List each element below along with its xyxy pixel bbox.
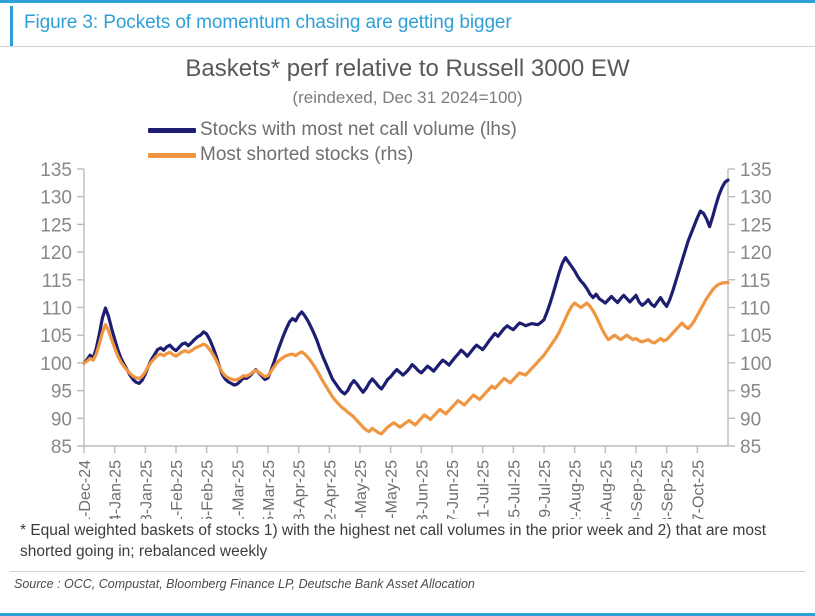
svg-text:120: 120 — [740, 243, 772, 264]
svg-text:105: 105 — [740, 326, 772, 347]
svg-text:105: 105 — [40, 326, 72, 347]
svg-text:120: 120 — [40, 243, 72, 264]
svg-text:22-Apr-25: 22-Apr-25 — [322, 460, 339, 519]
svg-text:100: 100 — [40, 354, 72, 375]
svg-text:90: 90 — [740, 409, 761, 430]
svg-text:29-Jul-25: 29-Jul-25 — [537, 460, 554, 519]
svg-text:130: 130 — [740, 188, 772, 209]
figure-header: Figure 3: Pockets of momentum chasing ar… — [0, 0, 815, 46]
svg-text:15-Jul-25: 15-Jul-25 — [506, 460, 523, 519]
chart-footnote: * Equal weighted baskets of stocks 1) wi… — [0, 519, 815, 563]
svg-text:130: 130 — [40, 188, 72, 209]
svg-text:115: 115 — [740, 271, 770, 292]
svg-text:7-Oct-25: 7-Oct-25 — [690, 460, 707, 519]
svg-text:3-Jun-25: 3-Jun-25 — [414, 460, 431, 519]
svg-text:14-Jan-25: 14-Jan-25 — [108, 460, 125, 519]
svg-text:23-Sep-25: 23-Sep-25 — [660, 460, 677, 519]
svg-text:110: 110 — [740, 299, 770, 320]
svg-text:20-May-25: 20-May-25 — [384, 460, 401, 519]
svg-text:100: 100 — [740, 354, 772, 375]
svg-text:1-Jul-25: 1-Jul-25 — [476, 460, 493, 518]
svg-text:125: 125 — [740, 215, 772, 236]
svg-text:25-Mar-25: 25-Mar-25 — [261, 460, 278, 519]
svg-text:85: 85 — [740, 437, 761, 458]
chart-svg: 8585909095951001001051051101101151151201… — [0, 47, 815, 519]
svg-text:25-Feb-25: 25-Feb-25 — [200, 460, 217, 519]
svg-text:12-Aug-25: 12-Aug-25 — [568, 460, 585, 519]
svg-text:28-Jan-25: 28-Jan-25 — [138, 460, 155, 519]
svg-text:95: 95 — [51, 382, 72, 403]
plot-area: 8585909095951001001051051101101151151201… — [0, 47, 815, 519]
svg-text:85: 85 — [51, 437, 72, 458]
svg-text:9-Sep-25: 9-Sep-25 — [629, 460, 646, 519]
svg-text:125: 125 — [40, 215, 72, 236]
svg-text:115: 115 — [42, 271, 72, 292]
figure-container: Figure 3: Pockets of momentum chasing ar… — [0, 0, 815, 616]
svg-text:11-Feb-25: 11-Feb-25 — [169, 460, 186, 519]
svg-text:90: 90 — [51, 409, 72, 430]
svg-text:95: 95 — [740, 382, 761, 403]
svg-text:17-Jun-25: 17-Jun-25 — [445, 460, 462, 519]
svg-text:6-May-25: 6-May-25 — [353, 460, 370, 519]
svg-text:135: 135 — [740, 160, 772, 181]
svg-text:11-Mar-25: 11-Mar-25 — [230, 460, 247, 519]
svg-text:135: 135 — [40, 160, 72, 181]
source-line: Source : OCC, Compustat, Bloomberg Finan… — [0, 572, 815, 591]
figure-header-title: Figure 3: Pockets of momentum chasing ar… — [24, 12, 512, 34]
svg-text:110: 110 — [42, 299, 72, 320]
chart-block: Baskets* perf relative to Russell 3000 E… — [0, 47, 815, 519]
svg-text:31-Dec-24: 31-Dec-24 — [77, 460, 94, 519]
svg-text:8-Apr-25: 8-Apr-25 — [292, 460, 309, 519]
svg-text:26-Aug-25: 26-Aug-25 — [598, 460, 615, 519]
